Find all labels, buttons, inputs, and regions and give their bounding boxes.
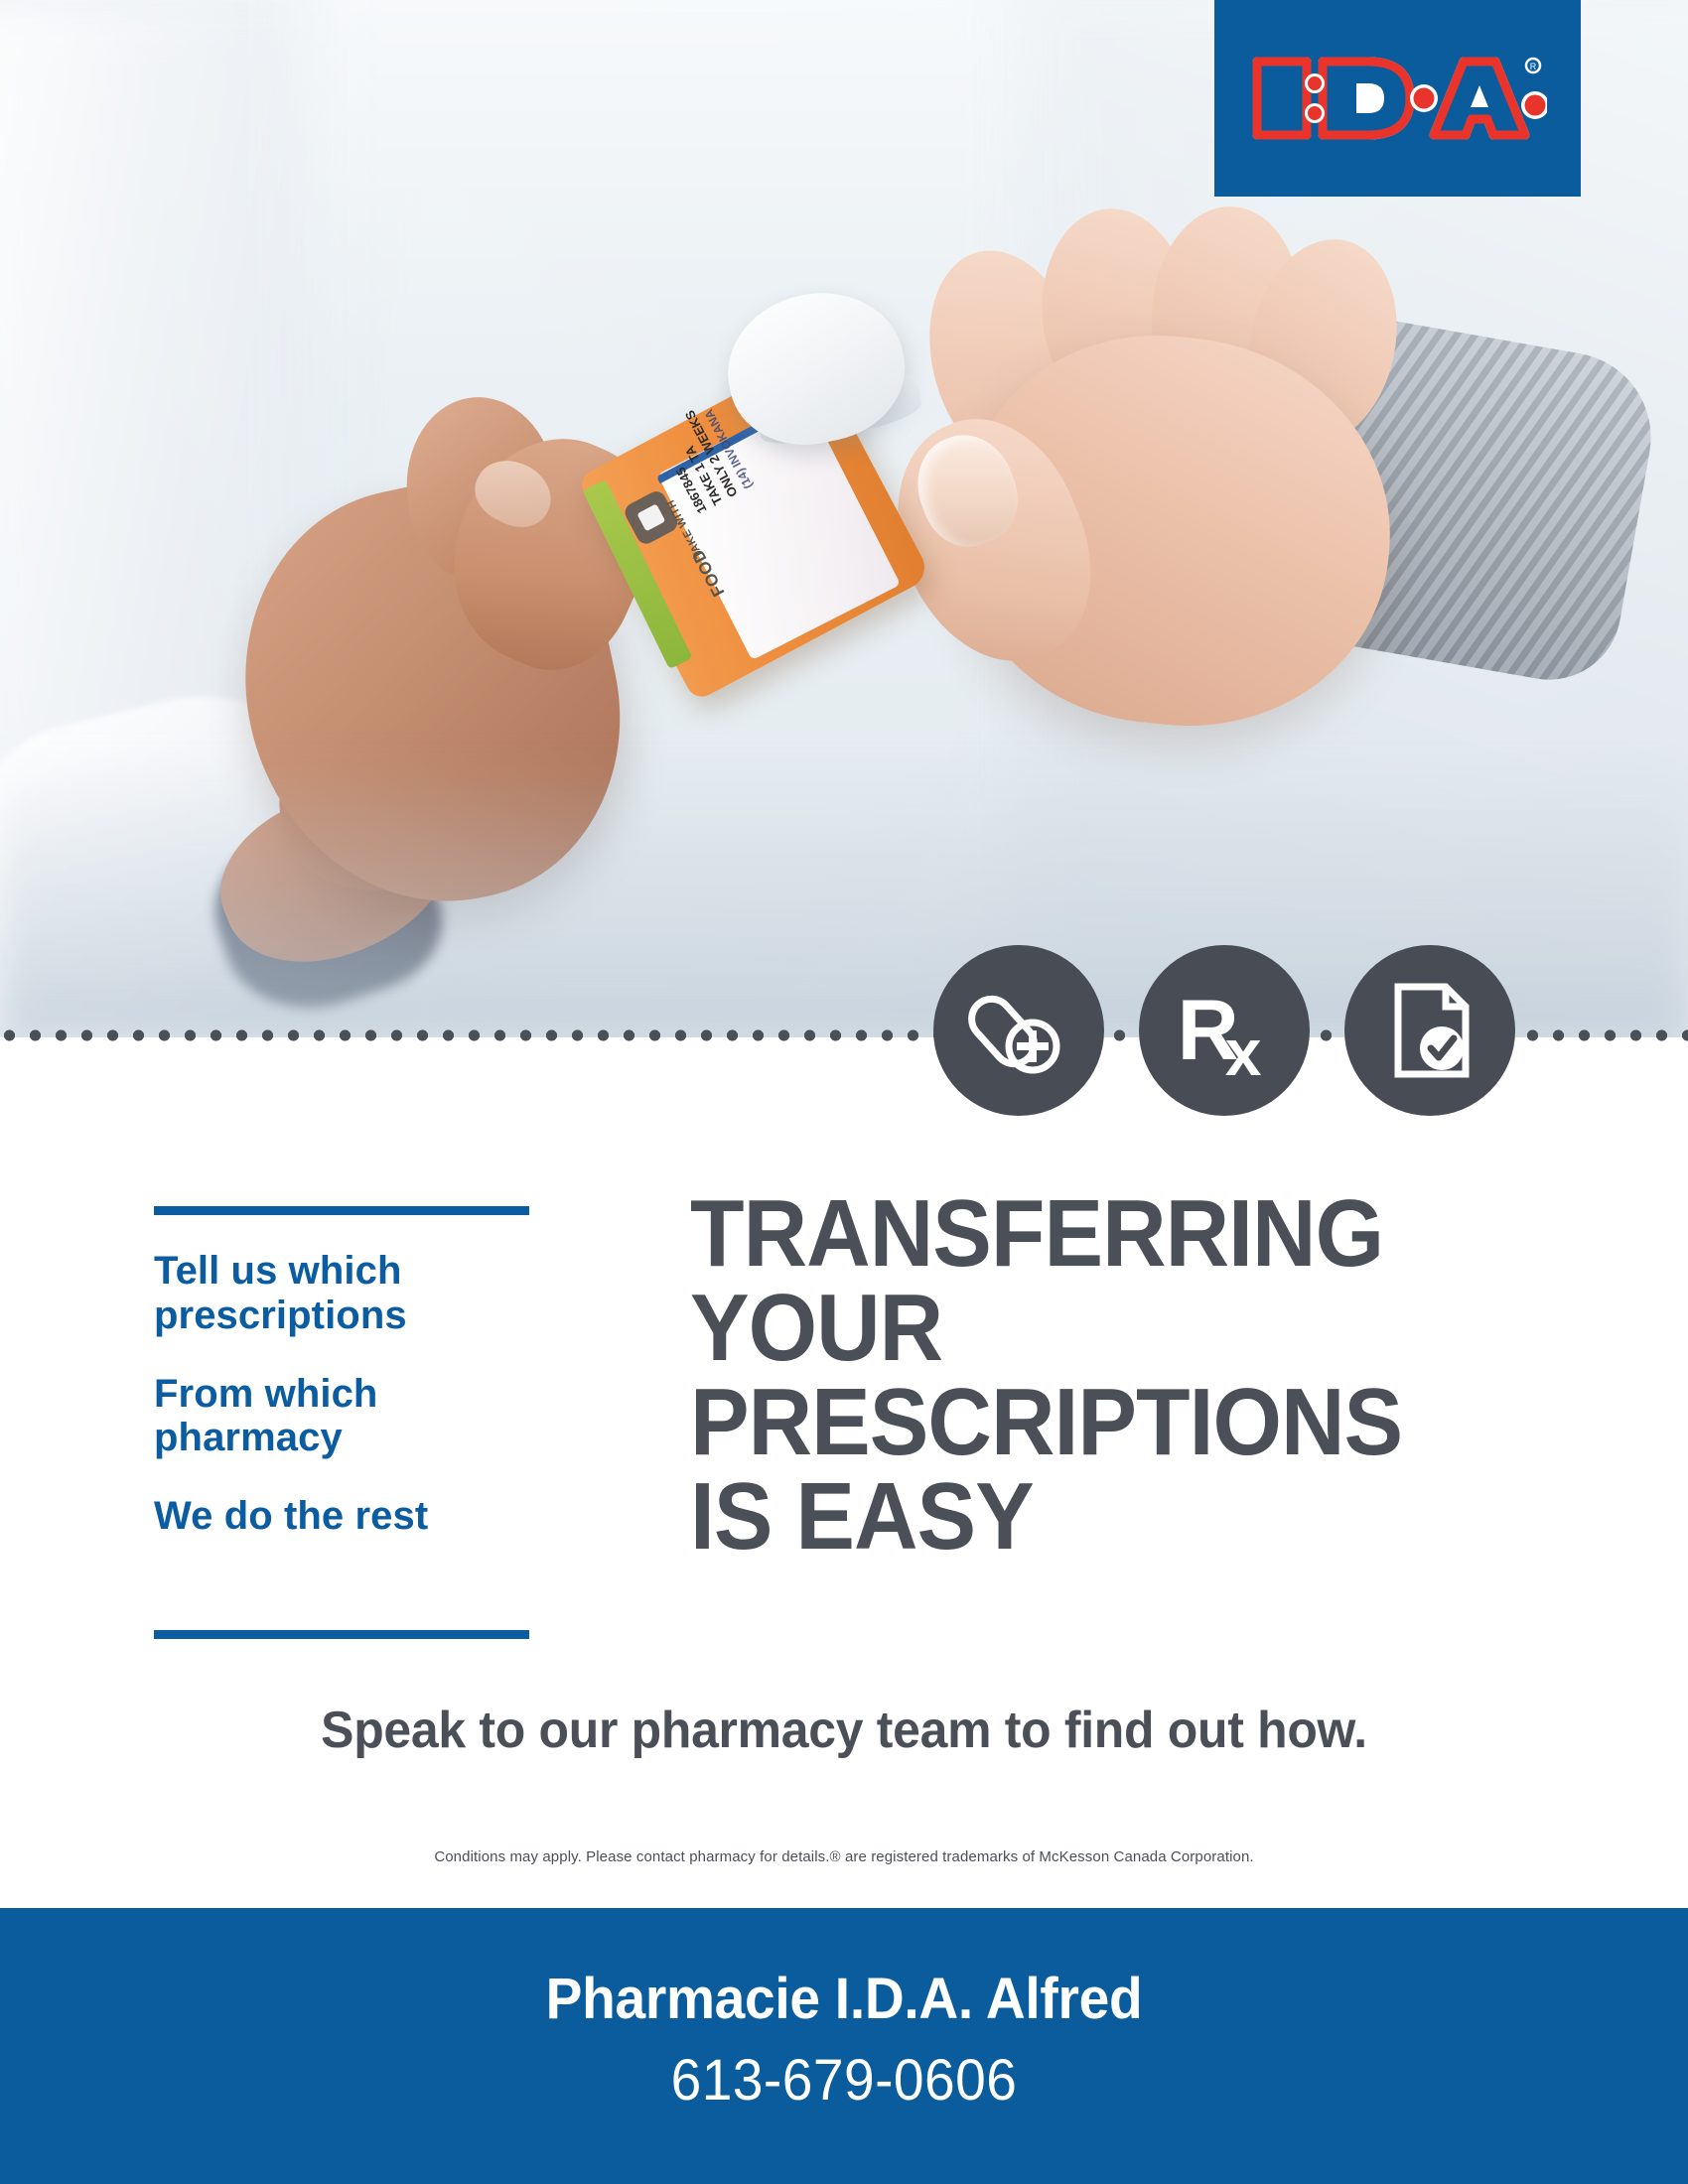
- content-area: Tell us which prescriptions From which p…: [0, 1037, 1688, 1908]
- pills-plus-icon: [933, 945, 1104, 1116]
- step-item-2: From which pharmacy: [154, 1372, 529, 1461]
- headline-line-1: TRANSFERRING: [690, 1186, 1493, 1281]
- page-title: TRANSFERRING YOUR PRESCRIPTIONS IS EASY: [690, 1186, 1493, 1564]
- rx-icon: Rx: [1139, 945, 1310, 1116]
- ida-logo: R: [1214, 0, 1581, 197]
- steps-rule-bottom: [154, 1630, 529, 1639]
- steps-list: Tell us which prescriptions From which p…: [154, 1206, 529, 1539]
- headline-line-4: IS EASY: [690, 1469, 1493, 1564]
- pharmacy-name: Pharmacie I.D.A. Alfred: [43, 1966, 1646, 2032]
- tagline: Speak to our pharmacy team to find out h…: [34, 1701, 1654, 1760]
- svg-text:R: R: [1529, 62, 1536, 71]
- steps-rule-top: [154, 1206, 529, 1215]
- step-item-3: We do the rest: [154, 1494, 529, 1539]
- fineprint-disclaimer: Conditions may apply. Please contact pha…: [0, 1848, 1688, 1865]
- step-item-1: Tell us which prescriptions: [154, 1249, 529, 1338]
- rx-letter-x: x: [1225, 1016, 1260, 1089]
- icon-row: Rx: [0, 945, 1688, 1116]
- rx-glyph: Rx: [1178, 988, 1272, 1073]
- document-check-icon: [1344, 945, 1515, 1116]
- footer-bar: Pharmacie I.D.A. Alfred 613-679-0606: [0, 1908, 1688, 2184]
- headline-line-2: YOUR: [690, 1281, 1493, 1375]
- pharmacy-phone[interactable]: 613-679-0606: [43, 2047, 1646, 2114]
- headline-line-3: PRESCRIPTIONS: [690, 1375, 1493, 1469]
